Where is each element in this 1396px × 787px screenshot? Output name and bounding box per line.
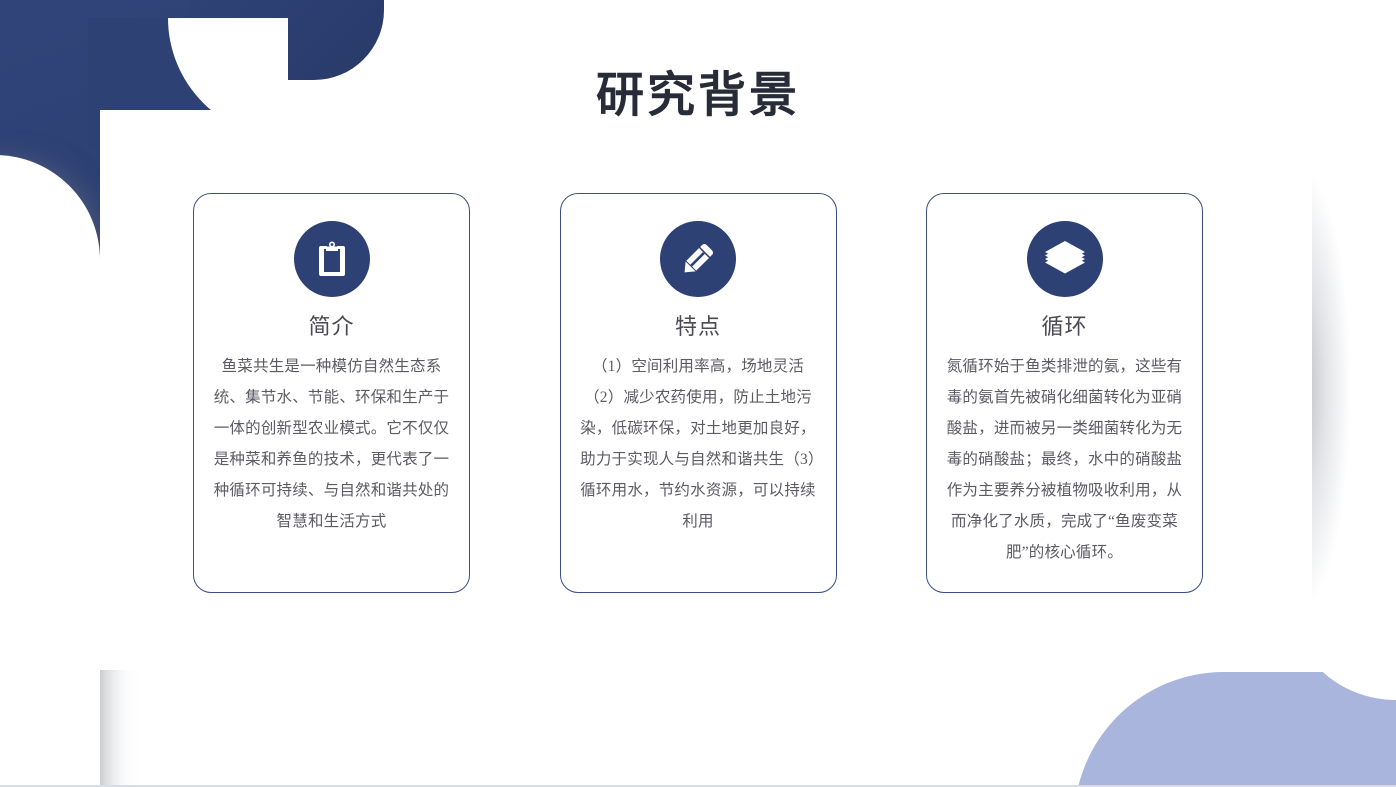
- card-heading: 循环: [1041, 313, 1087, 342]
- pencil-icon: [660, 221, 736, 297]
- layers-icon: [1027, 221, 1103, 297]
- card-heading: 简介: [308, 313, 354, 342]
- white-blob-left: [0, 155, 100, 787]
- card-features[interactable]: 特点 （1）空间利用率高，场地灵活（2）减少农药使用，防止土地污染，低碳环保，对…: [560, 193, 837, 593]
- slide-canvas: 研究背景 简介 鱼菜共生是一种模仿自然生态系统、集节水、节能、环保和生产于一体的…: [0, 0, 1396, 787]
- card-body: 氮循环始于鱼类排泄的氨，这些有毒的氨首先被硝化细菌转化为亚硝酸盐，进而被另一类细…: [943, 351, 1186, 568]
- card-row: 简介 鱼菜共生是一种模仿自然生态系统、集节水、节能、环保和生产于一体的创新型农业…: [193, 193, 1203, 593]
- card-body: 鱼菜共生是一种模仿自然生态系统、集节水、节能、环保和生产于一体的创新型农业模式。…: [210, 351, 453, 537]
- card-heading: 特点: [675, 313, 721, 342]
- card-body-text: （1）空间利用率高，场地灵活（2）减少农药使用，防止土地污染，低碳环保，对土地更…: [577, 351, 820, 537]
- card-body-text: 鱼菜共生是一种模仿自然生态系统、集节水、节能、环保和生产于一体的创新型农业模式。…: [210, 351, 453, 537]
- clipboard-icon: [294, 221, 370, 297]
- page-title: 研究背景: [0, 55, 1396, 125]
- card-intro[interactable]: 简介 鱼菜共生是一种模仿自然生态系统、集节水、节能、环保和生产于一体的创新型农业…: [193, 193, 470, 593]
- card-body-text: 氮循环始于鱼类排泄的氨，这些有毒的氨首先被硝化细菌转化为亚硝酸盐，进而被另一类细…: [943, 351, 1186, 568]
- card-body: （1）空间利用率高，场地灵活（2）减少农药使用，防止土地污染，低碳环保，对土地更…: [577, 351, 820, 537]
- card-cycle[interactable]: 循环 氮循环始于鱼类排泄的氨，这些有毒的氨首先被硝化细菌转化为亚硝酸盐，进而被另…: [926, 193, 1203, 593]
